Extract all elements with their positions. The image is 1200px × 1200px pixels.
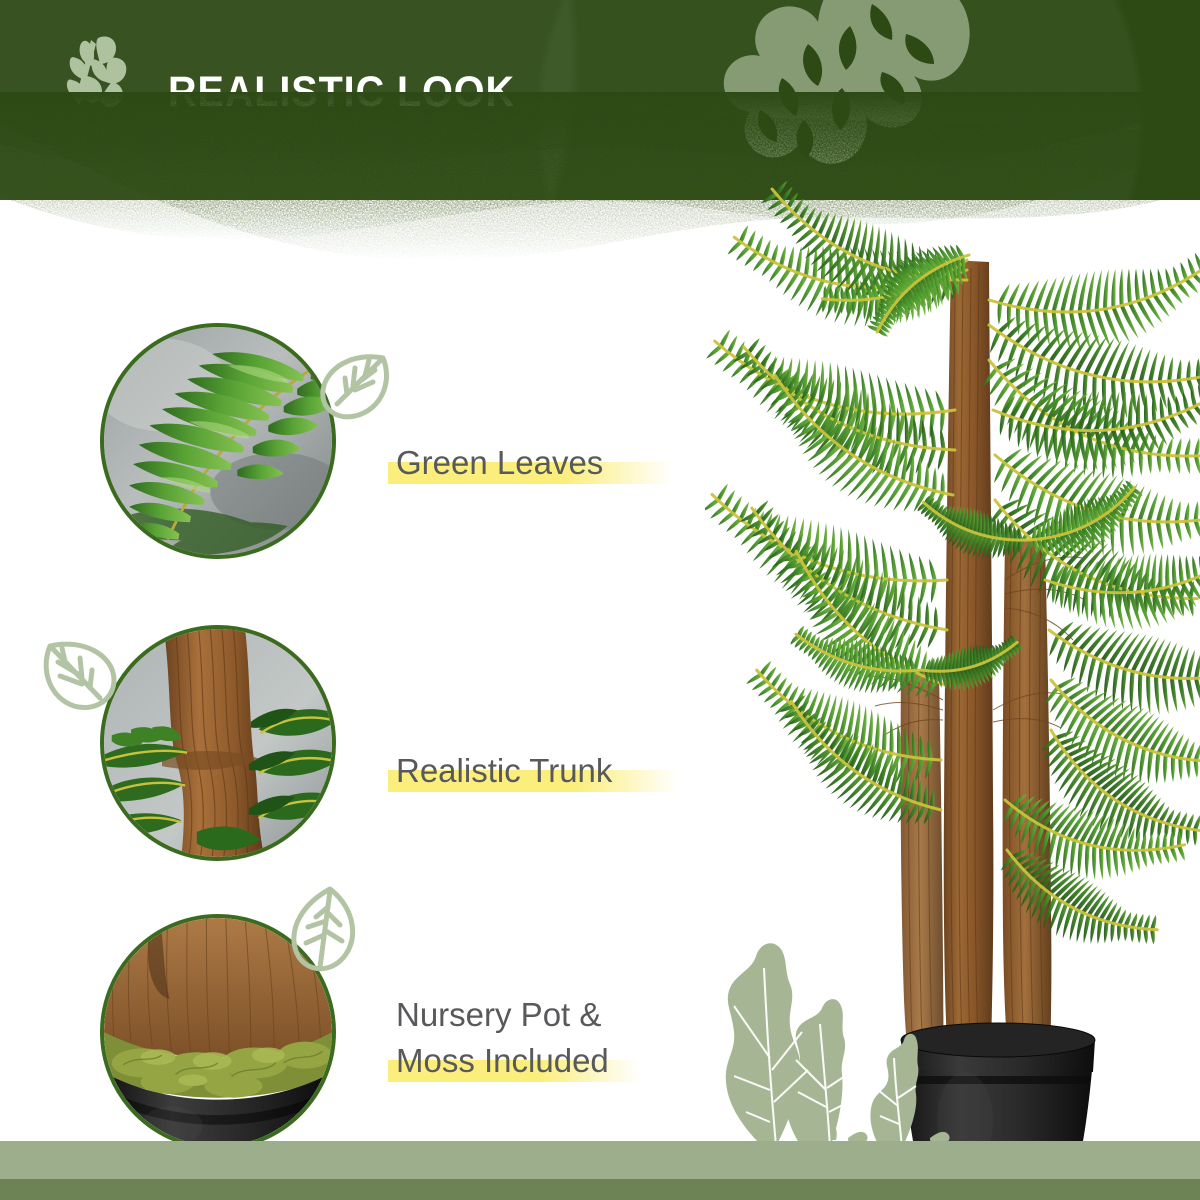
leaf-outline-icon xyxy=(311,342,399,430)
label-line: Moss Included xyxy=(394,1038,611,1084)
leaf-outline-icon xyxy=(284,881,370,977)
page-title: REALISTIC LOOK xyxy=(168,71,515,114)
feature-label-nursery-pot: Nursery Pot & Moss Included xyxy=(394,992,611,1084)
leaf-outline-icon xyxy=(34,632,126,720)
footer-sage-band xyxy=(0,1141,1200,1179)
realistic-trunk-photo xyxy=(100,625,336,861)
label-line: Realistic Trunk xyxy=(394,748,614,794)
label-line: Green Leaves xyxy=(394,440,605,486)
feature-label-green-leaves: Green Leaves xyxy=(394,440,605,486)
footer-dark-band xyxy=(0,1179,1200,1200)
fern-leaf-icon xyxy=(58,32,132,112)
footer-decor-plants xyxy=(690,940,990,1150)
infographic-canvas: REALISTIC LOOK xyxy=(0,0,1200,1200)
feature-label-realistic-trunk: Realistic Trunk xyxy=(394,748,614,794)
green-leaves-photo xyxy=(100,323,336,559)
label-line: Nursery Pot & xyxy=(394,992,611,1038)
